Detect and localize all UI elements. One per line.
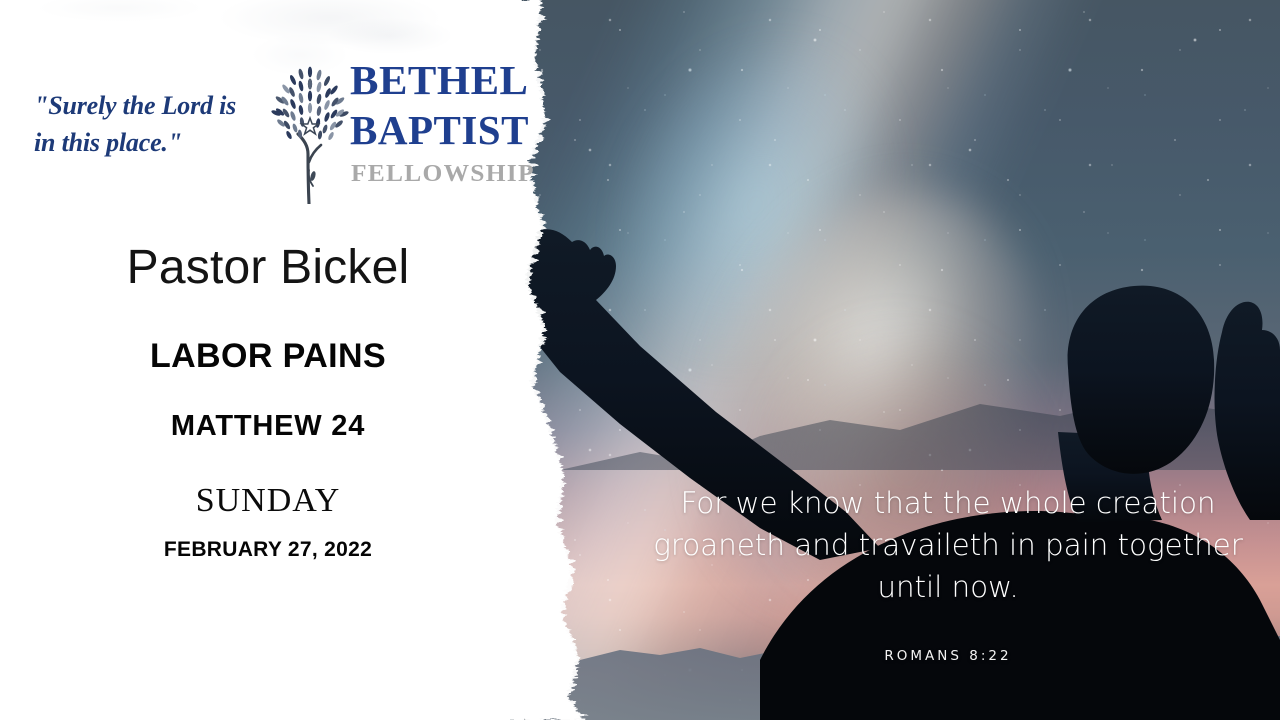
sermon-title: LABOR PAINS	[0, 337, 536, 376]
verse-quote-line-2: in this place."	[34, 125, 274, 162]
service-date: FEBRUARY 27, 2022	[0, 538, 536, 562]
logo-word-bethel: BETHEL	[350, 60, 528, 101]
tree-logo-icon	[268, 58, 352, 204]
sermon-slide: "Surely the Lord is in this place."	[0, 0, 1280, 720]
church-logo: BETHEL BAPTIST FELLOWSHIP	[268, 52, 504, 204]
left-info-panel: "Surely the Lord is in this place."	[0, 0, 540, 720]
scripture-reference: ROMANS 8:22	[646, 648, 1250, 664]
sermon-passage: MATTHEW 24	[0, 410, 536, 443]
verse-quote: "Surely the Lord is in this place."	[34, 88, 274, 162]
scripture-text: For we know that the whole creation groa…	[646, 483, 1250, 609]
church-logo-wordmark: BETHEL BAPTIST FELLOWSHIP	[350, 52, 504, 204]
verse-quote-line-1: "Surely the Lord is	[34, 88, 274, 125]
scripture-line-3: until now.	[646, 567, 1250, 609]
speaker-name: Pastor Bickel	[0, 240, 536, 295]
logo-word-fellowship: FELLOWSHIP	[351, 162, 535, 186]
scripture-line-1: For we know that the whole creation	[646, 483, 1250, 525]
scripture-line-2: groaneth and travaileth in pain together	[646, 525, 1250, 567]
logo-word-baptist: BAPTIST	[350, 110, 529, 151]
service-day: SUNDAY	[0, 482, 536, 520]
